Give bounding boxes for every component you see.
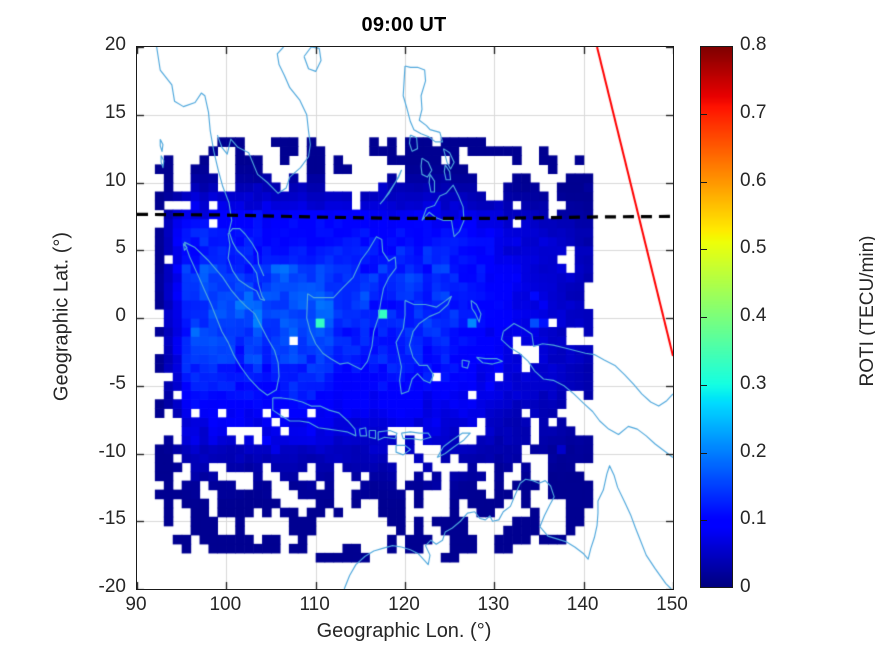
x-tick-label: 120 (374, 594, 434, 616)
page-title: 09:00 UT (136, 14, 672, 37)
x-tick-label: 150 (642, 594, 702, 616)
colorbar-tick-mark (700, 317, 707, 318)
colorbar-label: ROTI (TECU/min) (857, 161, 875, 461)
colorbar-tick-mark (700, 182, 707, 183)
colorbar-tick-label: 0.4 (740, 305, 766, 327)
colorbar (700, 46, 733, 588)
roti-heatmap-canvas (137, 47, 673, 589)
x-tick-label: 140 (553, 594, 613, 616)
colorbar-tick-label: 0.6 (740, 170, 766, 192)
colorbar-tick-label: 0.7 (740, 102, 766, 124)
x-tick-label: 110 (285, 594, 345, 616)
y-axis-label: Geographic Lat. (°) (51, 187, 74, 447)
colorbar-tick-label: 0.8 (740, 34, 766, 56)
y-tick-label: 15 (64, 102, 126, 124)
colorbar-tick-mark (700, 385, 707, 386)
colorbar-tick-mark (700, 520, 707, 521)
y-tick-label: 20 (64, 34, 126, 56)
x-axis-label: Geographic Lon. (°) (136, 620, 672, 643)
colorbar-tick-mark (700, 453, 707, 454)
roti-map-figure: 09:00 UT -20-15-10-505101520 90100110120… (0, 0, 875, 656)
colorbar-tick-label: 0.1 (740, 508, 766, 530)
x-tick-label: 130 (463, 594, 523, 616)
colorbar-tick-label: 0.5 (740, 237, 766, 259)
colorbar-tick-label: 0 (740, 576, 751, 598)
colorbar-tick-label: 0.3 (740, 373, 766, 395)
colorbar-tick-mark (700, 114, 707, 115)
x-tick-label: 100 (195, 594, 255, 616)
y-tick-label: -15 (64, 508, 126, 530)
colorbar-tick-mark (700, 249, 707, 250)
colorbar-tick-label: 0.2 (740, 441, 766, 463)
x-tick-label: 90 (106, 594, 166, 616)
plot-area (136, 46, 674, 590)
